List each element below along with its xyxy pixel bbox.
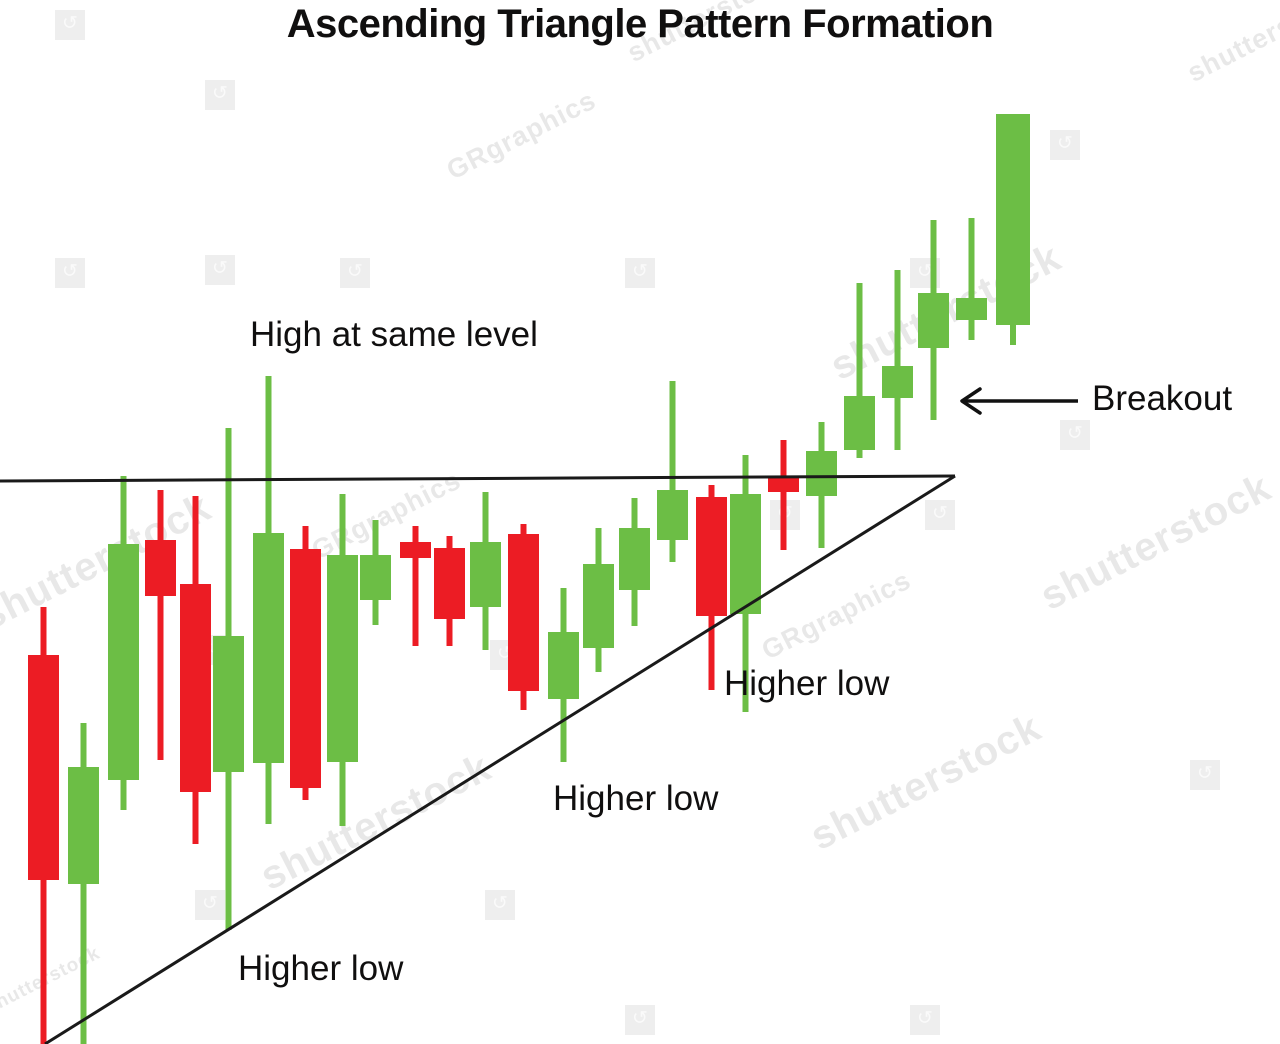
candle-body [508,534,539,691]
candle-body [470,542,501,607]
candle-body [882,366,913,398]
candle-body [108,544,139,780]
candle-body [400,542,431,558]
annotation-higher-low-3: Higher low [238,949,403,989]
candle-body [844,396,875,450]
candle-body [918,293,949,348]
candle-body [180,584,211,792]
candle-body [253,533,284,763]
chart-canvas: shutterstock shutterstock shutterstock s… [0,0,1280,1044]
candlestick-chart [0,0,1280,1044]
candle-body [768,478,799,492]
candle-body [956,298,987,320]
annotation-high-at-same-level: High at same level [250,315,538,355]
candle-body [583,564,614,648]
candle-body [68,767,99,884]
candle-body [28,655,59,880]
candle-body [327,555,358,762]
candle-series [28,114,1030,1044]
candle-body [730,494,761,614]
candle-body [619,528,650,590]
candle-body [806,451,837,496]
annotation-higher-low-2: Higher low [553,779,718,819]
annotation-higher-low-1: Higher low [724,664,889,704]
candle-body [360,555,391,600]
page-title: Ascending Triangle Pattern Formation [0,0,1280,48]
candle-body [548,632,579,699]
annotation-breakout: Breakout [1092,379,1232,419]
breakout-arrow-icon [962,389,1078,413]
candle-body [696,497,727,616]
candle-body [657,490,688,540]
candle-body [213,636,244,772]
candle-body [434,548,465,619]
candle-body [996,114,1030,325]
candle-body [290,549,321,788]
candle-body [145,540,176,596]
